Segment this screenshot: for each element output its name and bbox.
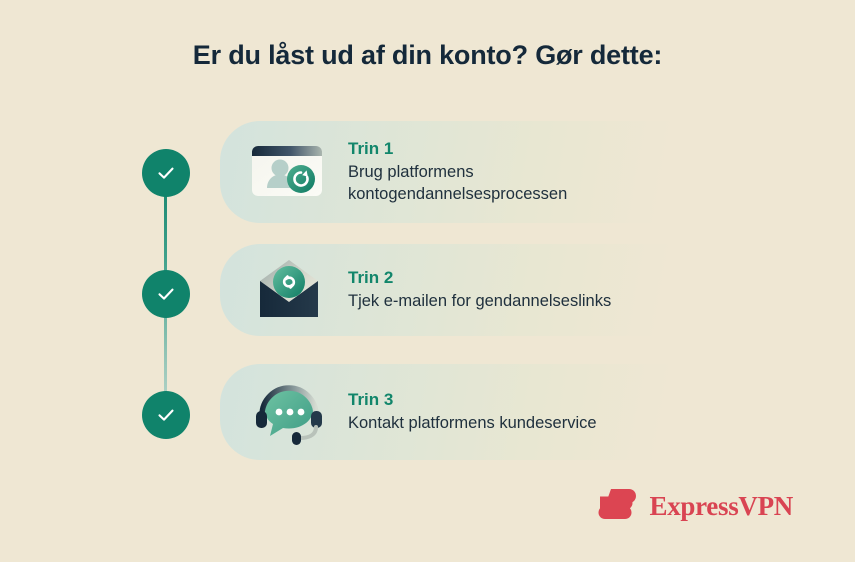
envelope-link-icon — [246, 254, 332, 326]
check-icon — [154, 282, 178, 306]
timeline — [142, 145, 192, 445]
timeline-node-2 — [142, 270, 190, 318]
step-card-1: Trin 1 Brug platformens kontogendannelse… — [220, 121, 720, 223]
step-3-description: Kontakt platformens kundeservice — [348, 413, 597, 435]
check-icon — [154, 161, 178, 185]
step-2-description: Tjek e-mailen for gendannelseslinks — [348, 291, 611, 313]
step-1-label: Trin 1 — [348, 138, 678, 159]
step-card-3-body: Trin 3 Kontakt platformens kundeservice — [348, 389, 597, 435]
expressvpn-e-mark-icon — [597, 487, 639, 526]
step-card-1-body: Trin 1 Brug platformens kontogendannelse… — [348, 138, 678, 206]
expressvpn-logo: ExpressVPN — [597, 487, 793, 526]
timeline-node-1 — [142, 149, 190, 197]
step-card-3: Trin 3 Kontakt platformens kundeservice — [220, 364, 720, 460]
page-title: Er du låst ud af din konto? Gør dette: — [0, 40, 855, 71]
timeline-node-3 — [142, 391, 190, 439]
step-2-label: Trin 2 — [348, 267, 611, 288]
account-recovery-window-icon — [246, 136, 332, 208]
expressvpn-wordmark: ExpressVPN — [649, 491, 793, 522]
step-3-label: Trin 3 — [348, 389, 597, 410]
step-card-2-body: Trin 2 Tjek e-mailen for gendannelseslin… — [348, 267, 611, 313]
step-card-2: Trin 2 Tjek e-mailen for gendannelseslin… — [220, 244, 720, 336]
check-icon — [154, 403, 178, 427]
headset-chat-icon — [246, 376, 332, 448]
step-1-description: Brug platformens kontogendannelsesproces… — [348, 162, 678, 206]
infographic-page: Er du låst ud af din konto? Gør dette: — [0, 0, 855, 562]
